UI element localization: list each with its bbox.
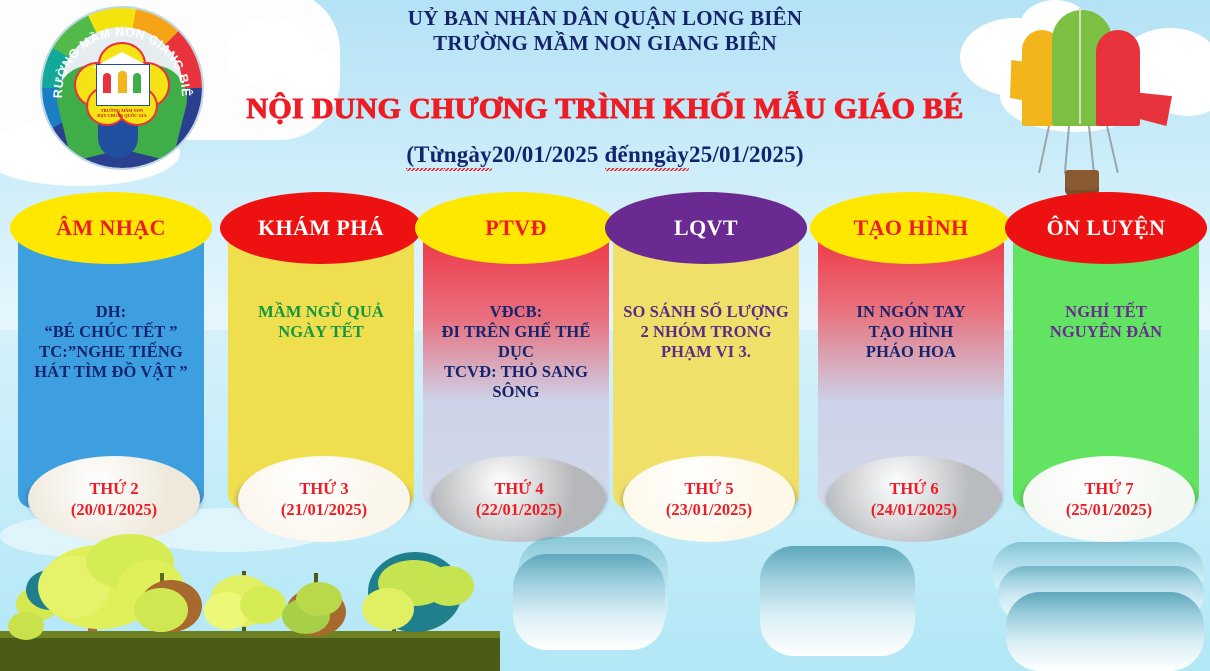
column-activity-text: NGHỈ TẾTNGUYÊN ĐÁN: [1017, 302, 1195, 342]
decor-plate: [760, 546, 915, 656]
decor-plate: [1006, 592, 1204, 671]
column-activity-text: SO SÁNH SỐ LƯỢNG2 NHÓM TRONGPHẠM VI 3.: [617, 302, 795, 362]
column-header-badge[interactable]: KHÁM PHÁ: [220, 192, 422, 264]
column-activity-text: DH:“BÉ CHÚC TẾT ”TC:”NGHE TIẾNG HÁT TÌM …: [22, 302, 200, 382]
column-activity-text: IN NGÓN TAYTẠO HÌNHPHÁO HOA: [822, 302, 1000, 362]
schedule-column[interactable]: TẠO HÌNHIN NGÓN TAYTẠO HÌNHPHÁO HOATHỨ 6…: [818, 228, 1004, 508]
poster-canvas: TRƯỜNG MẦM NON ĐẠT CHUẨN QUỐC GIA TRƯỜNG…: [0, 0, 1210, 671]
page-title: NỘI DUNG CHƯƠNG TRÌNH KHỐI MẪU GIÁO BÉ: [0, 92, 1210, 126]
day-label: THỨ 6: [889, 478, 938, 499]
column-day-badge[interactable]: THỨ 6(24/01/2025): [828, 456, 1000, 542]
column-activity-text: VĐCB:ĐI TRÊN GHẾ THỂ DỤCTCVĐ: THỎ SANG S…: [427, 302, 605, 402]
day-date: (23/01/2025): [666, 499, 752, 520]
day-date: (22/01/2025): [476, 499, 562, 520]
day-label: THỨ 5: [684, 478, 733, 499]
column-activity-text: MẦM NGŨ QUẢNGÀY TẾT: [232, 302, 410, 342]
day-label: THỨ 4: [494, 478, 543, 499]
day-label: THỨ 3: [299, 478, 348, 499]
day-date: (20/01/2025): [71, 499, 157, 520]
column-header-badge[interactable]: ÂM NHẠC: [10, 192, 212, 264]
column-header-badge[interactable]: ÔN LUYỆN: [1005, 192, 1207, 264]
column-day-badge[interactable]: THỨ 7(25/01/2025): [1023, 456, 1195, 542]
decor-plate: [513, 554, 665, 650]
schedule-column[interactable]: PTVĐVĐCB:ĐI TRÊN GHẾ THỂ DỤCTCVĐ: THỎ SA…: [423, 228, 609, 508]
day-date: (24/01/2025): [871, 499, 957, 520]
day-label: THỨ 7: [1084, 478, 1133, 499]
org-line-1: UỶ BAN NHÂN DÂN QUẬN LONG BIÊN: [0, 6, 1210, 31]
column-header-badge[interactable]: PTVĐ: [415, 192, 617, 264]
column-day-badge[interactable]: THỨ 4(22/01/2025): [433, 456, 605, 542]
column-header-badge[interactable]: LQVT: [605, 192, 807, 264]
schedule-column[interactable]: ÔN LUYỆNNGHỈ TẾTNGUYÊN ĐÁNTHỨ 7(25/01/20…: [1013, 228, 1199, 508]
org-line-2: TRƯỜNG MẦM NON GIANG BIÊN: [0, 31, 1210, 56]
day-label: THỨ 2: [89, 478, 138, 499]
schedule-column[interactable]: KHÁM PHÁMẦM NGŨ QUẢNGÀY TẾTTHỨ 3(21/01/2…: [228, 228, 414, 508]
column-day-badge[interactable]: THỨ 2(20/01/2025): [28, 456, 200, 542]
column-header-badge[interactable]: TẠO HÌNH: [810, 192, 1012, 264]
ground-strip: [0, 631, 500, 671]
day-date: (25/01/2025): [1066, 499, 1152, 520]
day-date: (21/01/2025): [281, 499, 367, 520]
schedule-column[interactable]: ÂM NHẠCDH:“BÉ CHÚC TẾT ”TC:”NGHE TIẾNG H…: [18, 228, 204, 508]
date-range: (Từ ngày 20/01/2025 đến ngày 25/01/2025): [0, 142, 1210, 168]
column-day-badge[interactable]: THỨ 3(21/01/2025): [238, 456, 410, 542]
schedule-column[interactable]: LQVTSO SÁNH SỐ LƯỢNG2 NHÓM TRONGPHẠM VI …: [613, 228, 799, 508]
column-day-badge[interactable]: THỨ 5(23/01/2025): [623, 456, 795, 542]
